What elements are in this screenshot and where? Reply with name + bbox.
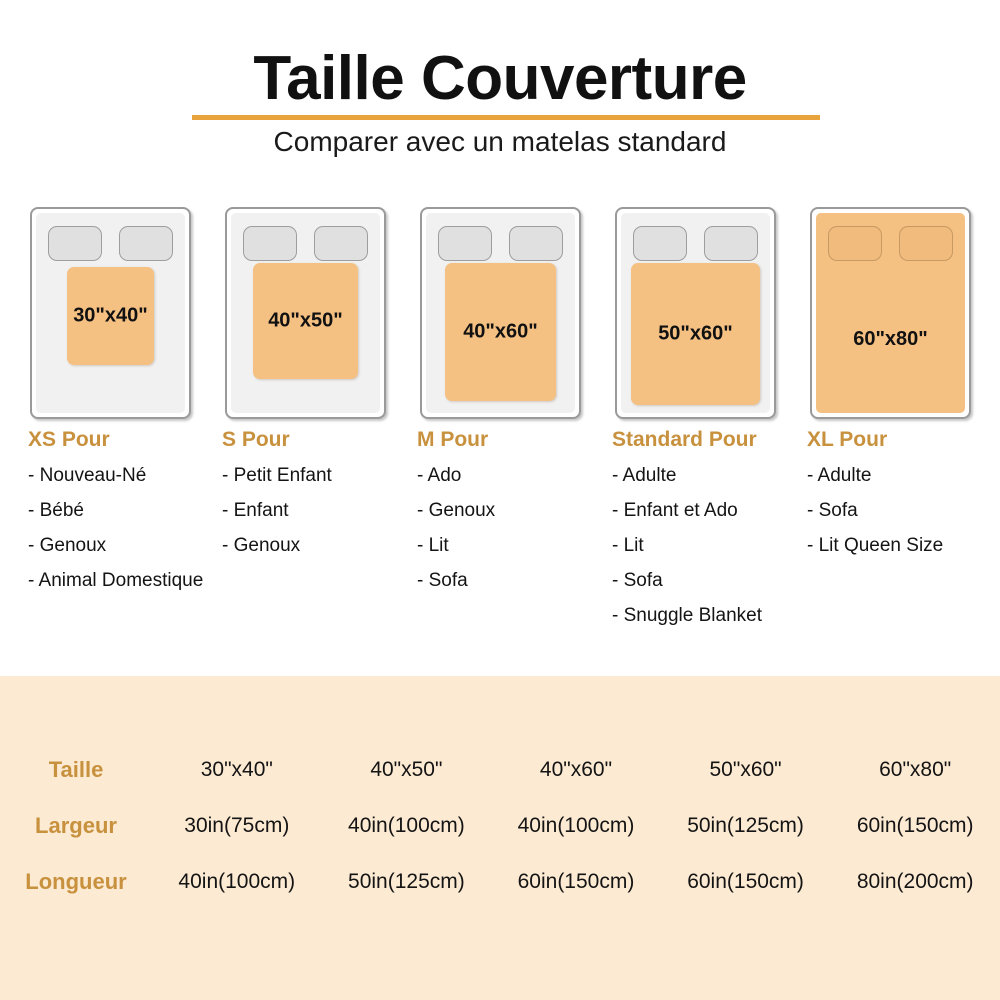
blanket-size-label: 50"x60" xyxy=(631,323,761,346)
table-row: Taille30"x40"40"x50"40"x60"50"x60"60"x80… xyxy=(0,742,1000,798)
table-cell: 60"x80" xyxy=(830,742,1000,798)
table-cell: 40"x50" xyxy=(322,742,492,798)
category-list-item: - Bébé xyxy=(28,501,228,520)
table-row-label: Longueur xyxy=(0,854,152,910)
category-heading: XS Pour xyxy=(28,428,228,452)
table-cell: 40in(100cm) xyxy=(322,798,492,854)
pillow-icon xyxy=(704,226,758,261)
mattress-surface: 40"x50" xyxy=(231,213,380,413)
pillow-icon xyxy=(828,226,882,261)
category-list-item: - Enfant xyxy=(222,501,422,520)
category-list-item: - Nouveau-Né xyxy=(28,466,228,485)
category-heading: Standard Pour xyxy=(612,428,812,452)
blanket-size-label: 40"x60" xyxy=(445,321,555,344)
pillow-icon xyxy=(438,226,492,261)
category-list-item: - Lit xyxy=(417,536,617,555)
blanket-size-label: 60"x80" xyxy=(816,328,965,351)
table-cell: 30"x40" xyxy=(152,742,322,798)
category-list-item: - Lit xyxy=(612,536,812,555)
title-block: Taille Couverture xyxy=(0,46,1000,111)
category-heading: M Pour xyxy=(417,428,617,452)
category-list-item: - Genoux xyxy=(417,501,617,520)
category-list-item: - Sofa xyxy=(417,571,617,590)
table-row: Largeur30in(75cm)40in(100cm)40in(100cm)5… xyxy=(0,798,1000,854)
mattress-frame: 40"x60" xyxy=(420,207,581,419)
category-column: M Pour- Ado- Genoux- Lit- Sofa xyxy=(417,428,617,606)
specifications-table: Taille30"x40"40"x50"40"x60"50"x60"60"x80… xyxy=(0,742,1000,910)
bed-diagram: 40"x60" xyxy=(420,207,581,419)
spec-table-section: Taille30"x40"40"x50"40"x60"50"x60"60"x80… xyxy=(0,676,1000,1000)
mattress-surface: 60"x80" xyxy=(816,213,965,413)
category-column: XS Pour- Nouveau-Né- Bébé- Genoux- Anima… xyxy=(28,428,228,606)
mattress-frame: 40"x50" xyxy=(225,207,386,419)
pillow-icon xyxy=(314,226,368,261)
blanket-overlay: 50"x60" xyxy=(631,263,761,405)
page-subtitle: Comparer avec un matelas standard xyxy=(0,126,1000,158)
table-cell: 50"x60" xyxy=(661,742,831,798)
category-list-item: - Petit Enfant xyxy=(222,466,422,485)
table-cell: 50in(125cm) xyxy=(661,798,831,854)
bed-diagrams-row: 30"x40"40"x50"40"x60"50"x60"60"x80" xyxy=(0,207,1000,421)
bed-diagram: 40"x50" xyxy=(225,207,386,419)
category-column: XL Pour- Adulte- Sofa- Lit Queen Size xyxy=(807,428,1000,571)
table-cell: 40in(100cm) xyxy=(491,798,661,854)
pillow-icon xyxy=(633,226,687,261)
category-column: S Pour- Petit Enfant- Enfant- Genoux xyxy=(222,428,422,571)
title-underline-rule xyxy=(192,115,820,120)
blanket-overlay: 30"x40" xyxy=(67,267,153,365)
pillow-icon xyxy=(243,226,297,261)
category-list-item: - Adulte xyxy=(612,466,812,485)
category-list-item: - Snuggle Blanket xyxy=(612,606,812,625)
table-row-label: Largeur xyxy=(0,798,152,854)
top-section: Taille Couverture Comparer avec un matel… xyxy=(0,0,1000,676)
blanket-size-label: 40"x50" xyxy=(253,310,357,333)
pillow-icon xyxy=(119,226,173,261)
mattress-surface: 30"x40" xyxy=(36,213,185,413)
bed-diagram: 60"x80" xyxy=(810,207,971,419)
blanket-overlay: 40"x60" xyxy=(445,263,555,401)
table-row-label: Taille xyxy=(0,742,152,798)
table-cell: 60in(150cm) xyxy=(491,854,661,910)
table-cell: 40"x60" xyxy=(491,742,661,798)
category-list-item: - Genoux xyxy=(28,536,228,555)
table-cell: 50in(125cm) xyxy=(322,854,492,910)
category-column: Standard Pour- Adulte- Enfant et Ado- Li… xyxy=(612,428,812,641)
category-list-item: - Enfant et Ado xyxy=(612,501,812,520)
page-title: Taille Couverture xyxy=(0,46,1000,111)
category-heading: S Pour xyxy=(222,428,422,452)
mattress-frame: 30"x40" xyxy=(30,207,191,419)
bed-diagram: 30"x40" xyxy=(30,207,191,419)
pillow-icon xyxy=(899,226,953,261)
blanket-overlay: 40"x50" xyxy=(253,263,357,379)
table-cell: 60in(150cm) xyxy=(661,854,831,910)
category-list-item: - Ado xyxy=(417,466,617,485)
category-list-item: - Sofa xyxy=(612,571,812,590)
table-cell: 30in(75cm) xyxy=(152,798,322,854)
category-list-item: - Sofa xyxy=(807,501,1000,520)
table-cell: 60in(150cm) xyxy=(830,798,1000,854)
table-cell: 80in(200cm) xyxy=(830,854,1000,910)
mattress-frame: 50"x60" xyxy=(615,207,776,419)
table-cell: 40in(100cm) xyxy=(152,854,322,910)
category-list-item: - Genoux xyxy=(222,536,422,555)
mattress-surface: 50"x60" xyxy=(621,213,770,413)
category-heading: XL Pour xyxy=(807,428,1000,452)
blanket-size-label: 30"x40" xyxy=(67,305,153,328)
mattress-frame: 60"x80" xyxy=(810,207,971,419)
category-list-item: - Animal Domestique xyxy=(28,571,228,590)
category-list-item: - Lit Queen Size xyxy=(807,536,1000,555)
table-row: Longueur40in(100cm)50in(125cm)60in(150cm… xyxy=(0,854,1000,910)
pillow-icon xyxy=(509,226,563,261)
bed-diagram: 50"x60" xyxy=(615,207,776,419)
pillow-icon xyxy=(48,226,102,261)
mattress-surface: 40"x60" xyxy=(426,213,575,413)
category-list-item: - Adulte xyxy=(807,466,1000,485)
